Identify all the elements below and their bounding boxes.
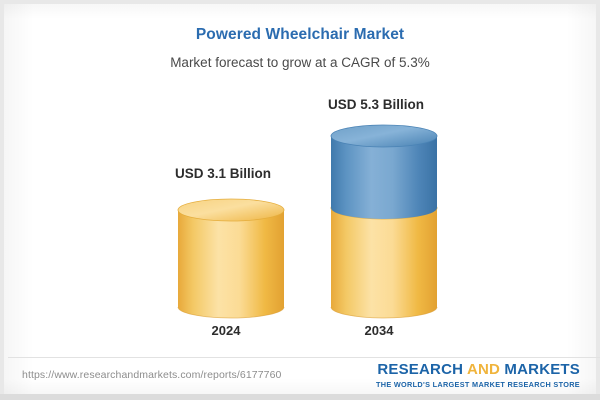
category-label-2024: 2024 xyxy=(156,323,296,338)
bar-2034[interactable] xyxy=(330,124,438,319)
data-label-2024: USD 3.1 Billion xyxy=(153,166,293,181)
logo-word-and: AND xyxy=(467,361,500,378)
logo-tagline: THE WORLD'S LARGEST MARKET RESEARCH STOR… xyxy=(376,381,580,388)
plot-area: USD 3.1 Billion USD 5.3 Billion 2024 203… xyxy=(4,4,596,354)
chart-screenshot: Powered Wheelchair Market Market forecas… xyxy=(0,0,600,400)
report-url[interactable]: https://www.researchandmarkets.com/repor… xyxy=(22,369,281,381)
logo-word-research: RESEARCH xyxy=(377,361,467,378)
bar-2034-growth-segment xyxy=(331,125,437,219)
logo-wordmark: RESEARCH AND MARKETS xyxy=(376,362,580,377)
data-label-2034: USD 5.3 Billion xyxy=(306,97,446,112)
chart-card: Powered Wheelchair Market Market forecas… xyxy=(4,4,596,394)
footer-divider xyxy=(8,357,600,358)
bar-2024[interactable] xyxy=(177,199,285,319)
bottom-band xyxy=(0,394,600,400)
category-label-2034: 2034 xyxy=(309,323,449,338)
logo-word-markets: MARKETS xyxy=(500,361,580,378)
research-and-markets-logo[interactable]: RESEARCH AND MARKETS THE WORLD'S LARGEST… xyxy=(376,362,580,388)
